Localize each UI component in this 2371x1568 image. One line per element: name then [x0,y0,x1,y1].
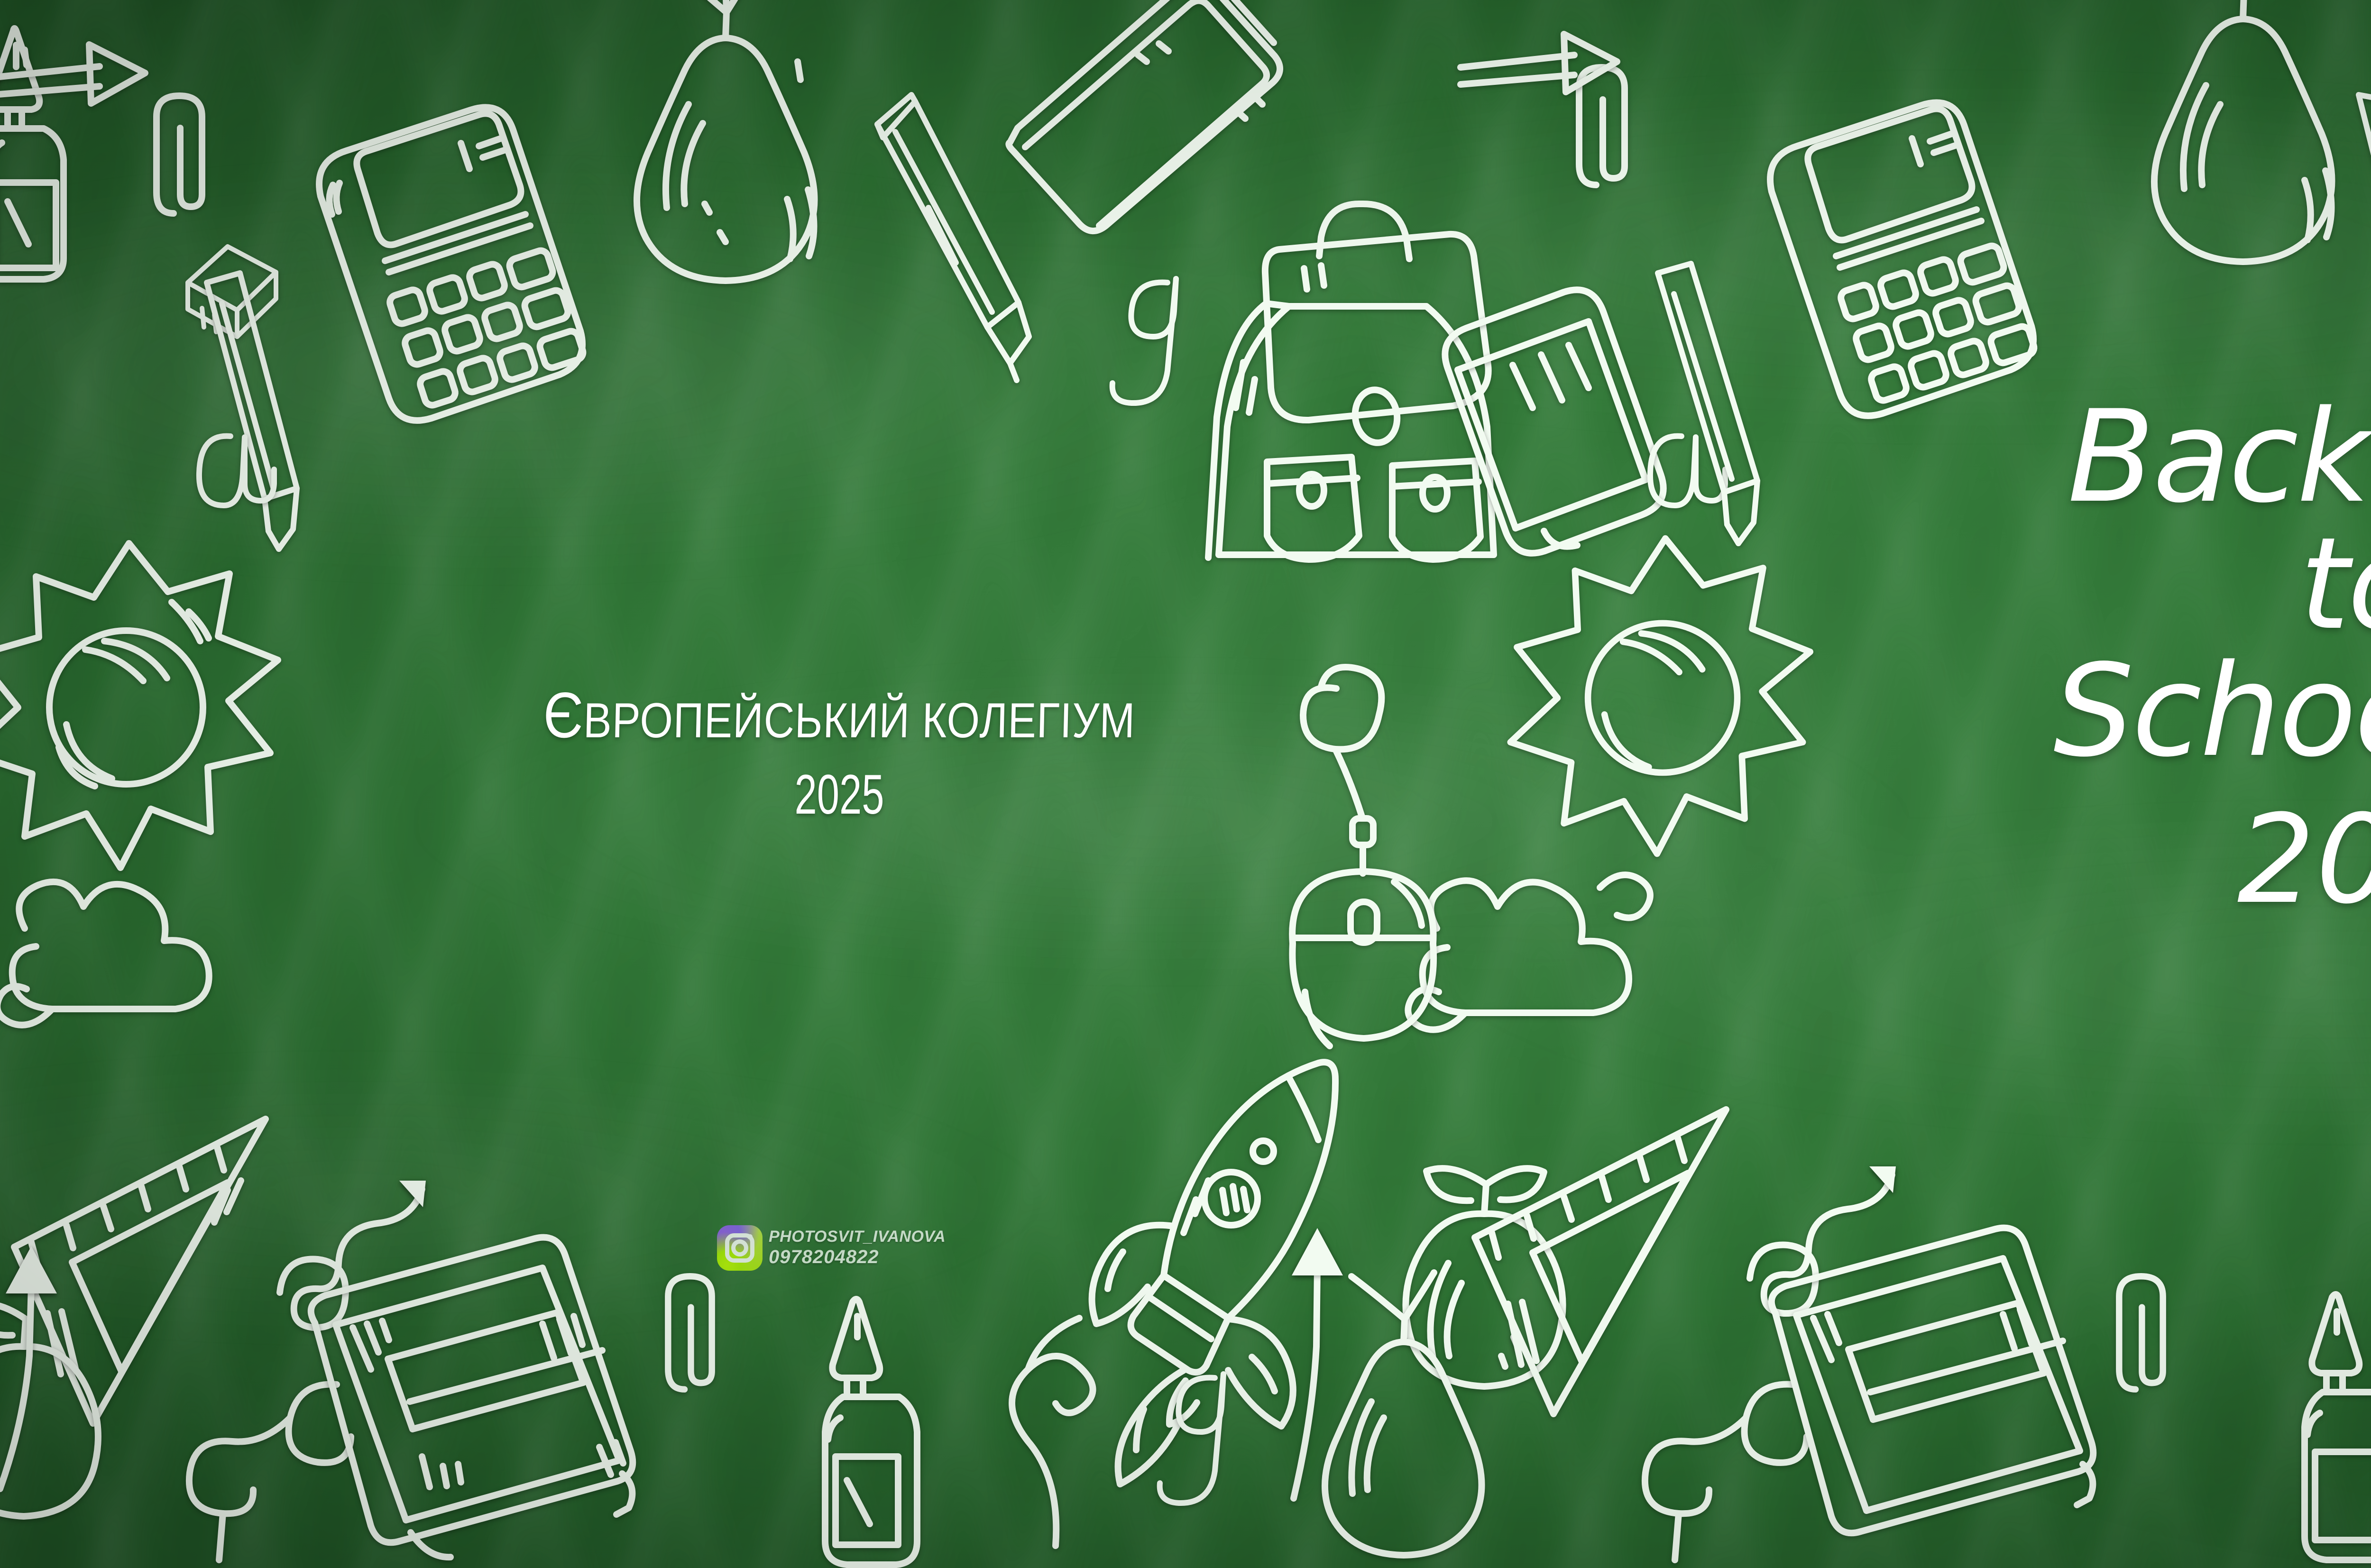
back-to-school-banner: ЄВРОПЕЙСЬКИЙ КОЛЕГІУМ 2025 Back to Schoo… [0,0,2371,1568]
board-vignette [0,0,2371,1568]
instagram-icon [717,1225,763,1271]
photographer-watermark: PHOTOSVIT_IVANOVA 0978204822 [717,1225,946,1271]
contact-phone: 0978204822 [769,1246,946,1268]
instagram-lens-glyph [731,1239,748,1256]
instagram-dot-glyph [747,1234,753,1239]
instagram-handle: PHOTOSVIT_IVANOVA [769,1227,946,1246]
watermark-text-block: PHOTOSVIT_IVANOVA 0978204822 [769,1227,946,1268]
